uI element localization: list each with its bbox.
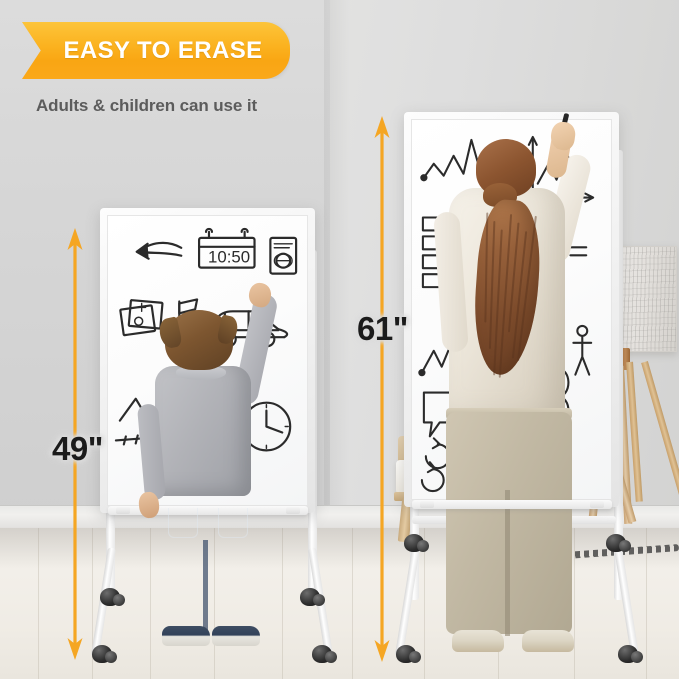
adult-board-marker-tray — [412, 500, 612, 509]
caster-wheel — [606, 534, 626, 552]
wall-corner-shading — [324, 0, 350, 520]
caster-wheel — [618, 645, 638, 663]
measurement-label-61: 61" — [357, 310, 408, 348]
tray-clip — [420, 501, 434, 508]
boy-sweatshirt — [155, 366, 251, 496]
hair-strand — [484, 213, 488, 323]
woman-shoe-left — [452, 630, 504, 652]
boy-hair — [165, 310, 233, 370]
caster-wheel — [396, 645, 416, 663]
caster-wheel — [312, 645, 332, 663]
measurement-label-49: 49" — [52, 430, 103, 468]
measurement-arrow-61 — [369, 116, 395, 662]
easy-to-erase-banner: EASY TO ERASE — [22, 22, 290, 79]
caster-wheel — [92, 645, 112, 663]
tray-clip — [286, 507, 300, 514]
svg-text:10:50: 10:50 — [208, 248, 250, 267]
banner-label: EASY TO ERASE — [49, 37, 262, 65]
boy-jeans-pocket — [168, 508, 198, 538]
tray-clip — [590, 501, 604, 508]
floor-shadow-gradient — [0, 528, 679, 568]
caster-wheel — [300, 588, 320, 606]
boy-jeans-pocket — [218, 508, 248, 538]
caster-wheel — [404, 534, 424, 552]
hair-strand — [489, 221, 495, 349]
tray-clip — [116, 507, 130, 514]
subheadline: Adults & children can use it — [36, 96, 257, 116]
woman-trouser-seam — [505, 490, 510, 636]
product-scene: H-OFFICE — [0, 0, 679, 679]
boy-shoe-left — [162, 626, 210, 646]
caster-wheel — [100, 588, 120, 606]
woman-shoe-right — [522, 630, 574, 652]
boy-jeans-seam — [203, 540, 208, 632]
boy-shoe-right — [212, 626, 260, 646]
